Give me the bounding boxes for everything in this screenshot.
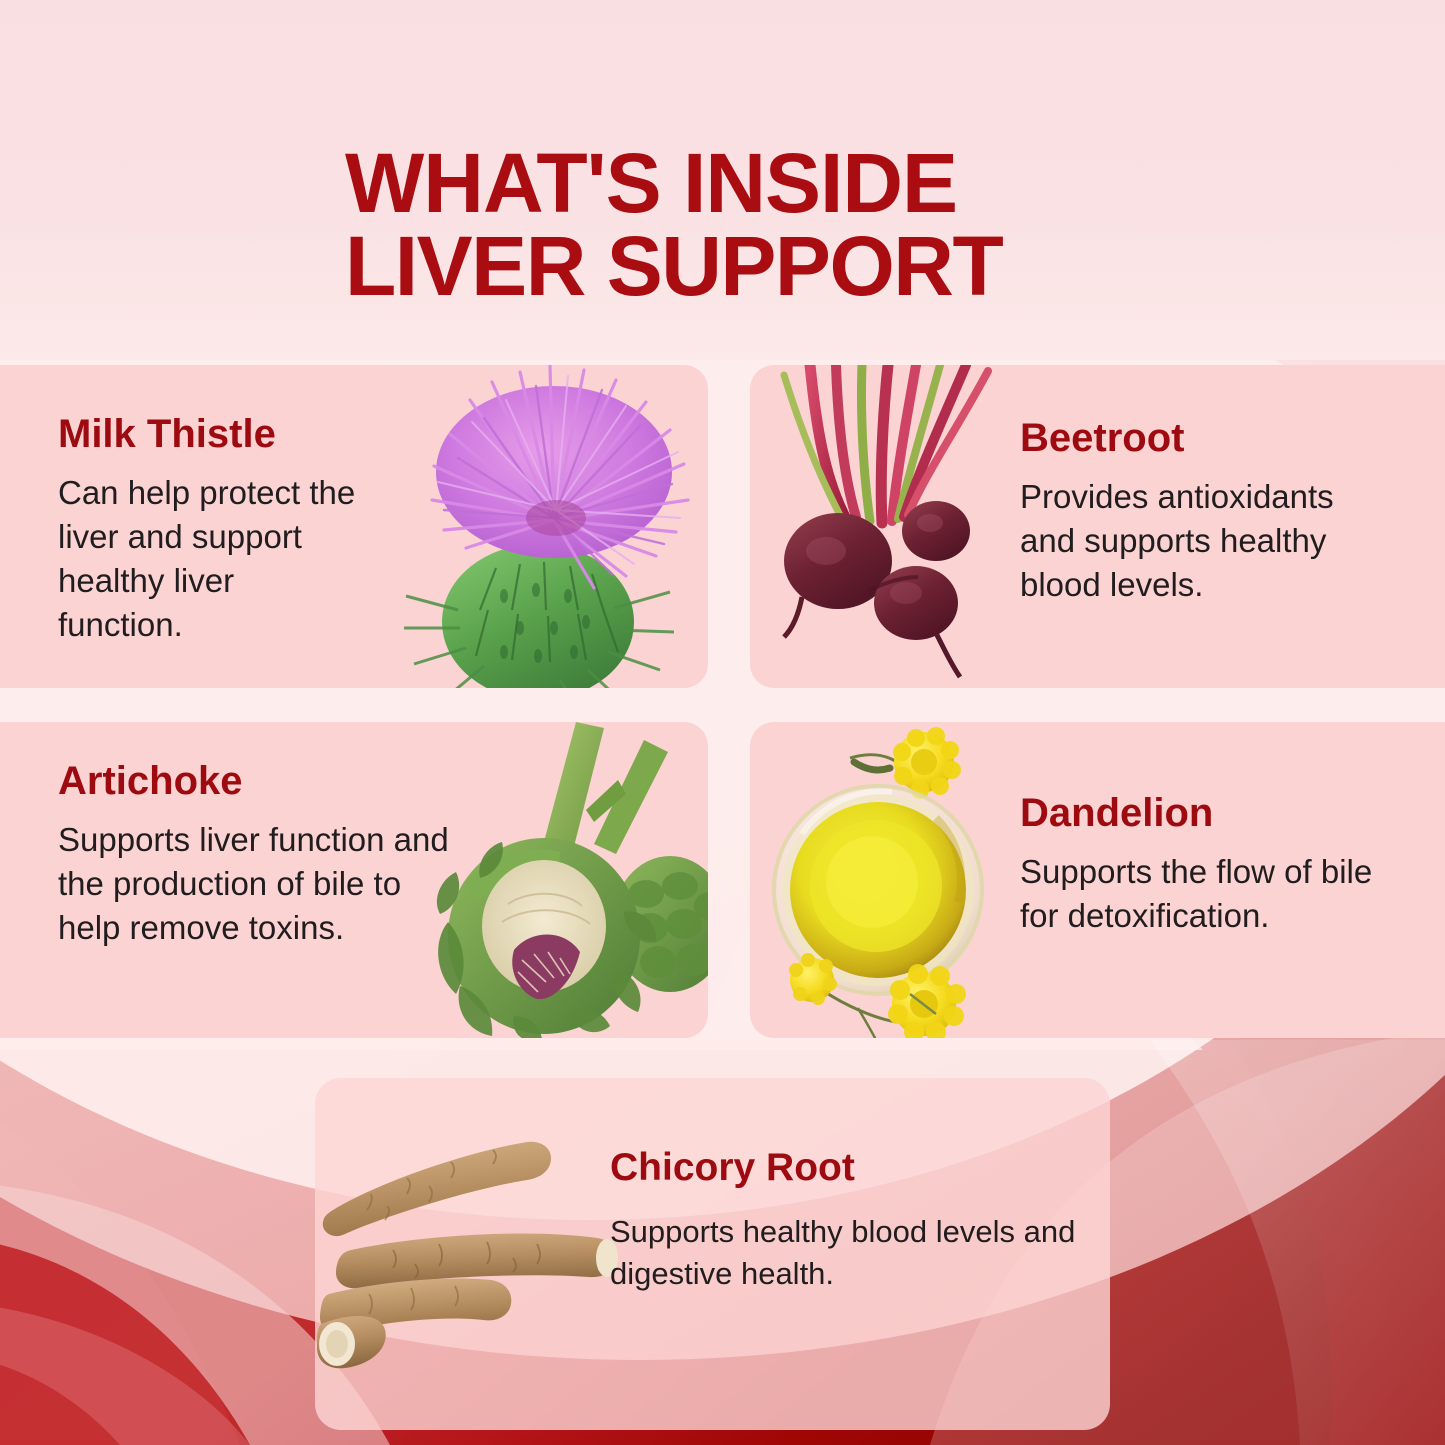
thistle-flower-head — [432, 366, 688, 588]
dandelion-text: Dandelion Supports the flow of bile for … — [1020, 792, 1410, 938]
thistle-bulb — [404, 544, 674, 688]
ingredient-card-dandelion: Dandelion Supports the flow of bile for … — [750, 722, 1445, 1038]
ingredient-name: Beetroot — [1020, 417, 1390, 459]
ingredient-description: Supports liver function and the producti… — [58, 818, 458, 950]
beet-bulbs — [784, 501, 970, 677]
header-band: WHAT'S INSIDE LIVER SUPPORT — [0, 0, 1445, 360]
beetroot-text: Beetroot Provides antioxidants and suppo… — [1020, 417, 1390, 607]
ingredient-description: Supports healthy blood levels and digest… — [610, 1211, 1080, 1295]
artichoke-illustration — [418, 722, 708, 1038]
page-title-line-2: LIVER SUPPORT — [345, 225, 1135, 307]
ingredient-name: Milk Thistle — [58, 413, 358, 455]
ingredient-description: Can help protect the liver and support h… — [58, 471, 358, 647]
chicory-root-image — [315, 1128, 635, 1398]
page-title: WHAT'S INSIDE LIVER SUPPORT — [345, 142, 1135, 307]
beetroot-image — [750, 365, 1040, 685]
milk-thistle-text: Milk Thistle Can help protect the liver … — [58, 413, 358, 647]
dandelion-image — [750, 722, 1040, 1038]
ingredient-card-artichoke: Artichoke Supports liver function and th… — [0, 722, 708, 1038]
ingredient-name: Dandelion — [1020, 792, 1410, 834]
ingredient-name: Artichoke — [58, 760, 458, 802]
infographic-poster: WHAT'S INSIDE LIVER SUPPORT Milk Thistle… — [0, 0, 1445, 1445]
chicory-root-piece-4 — [317, 1316, 386, 1368]
page-title-line-1: WHAT'S INSIDE — [345, 136, 957, 230]
ingredient-description: Supports the flow of bile for detoxifica… — [1020, 850, 1410, 938]
ingredient-card-chicory-root: Chicory Root Supports healthy blood leve… — [315, 1078, 1110, 1430]
ingredient-card-milk-thistle: Milk Thistle Can help protect the liver … — [0, 365, 708, 688]
dandelion-oil-bowl-illustration — [750, 722, 1040, 1038]
artichoke-halved — [437, 838, 656, 1038]
artichoke-text: Artichoke Supports liver function and th… — [58, 760, 458, 950]
beetroot-illustration — [750, 365, 1040, 685]
beet-stems — [784, 365, 988, 523]
artichoke-image — [418, 722, 708, 1038]
chicory-root-piece-1 — [323, 1142, 551, 1236]
ingredient-name: Chicory Root — [610, 1148, 1080, 1189]
ingredient-card-beetroot: Beetroot Provides antioxidants and suppo… — [750, 365, 1445, 688]
chicory-root-text: Chicory Root Supports healthy blood leve… — [610, 1148, 1080, 1295]
milk-thistle-image — [388, 365, 708, 688]
chicory-root-illustration — [315, 1128, 635, 1398]
milk-thistle-illustration — [388, 365, 708, 688]
ingredient-description: Provides antioxidants and supports healt… — [1020, 475, 1390, 607]
